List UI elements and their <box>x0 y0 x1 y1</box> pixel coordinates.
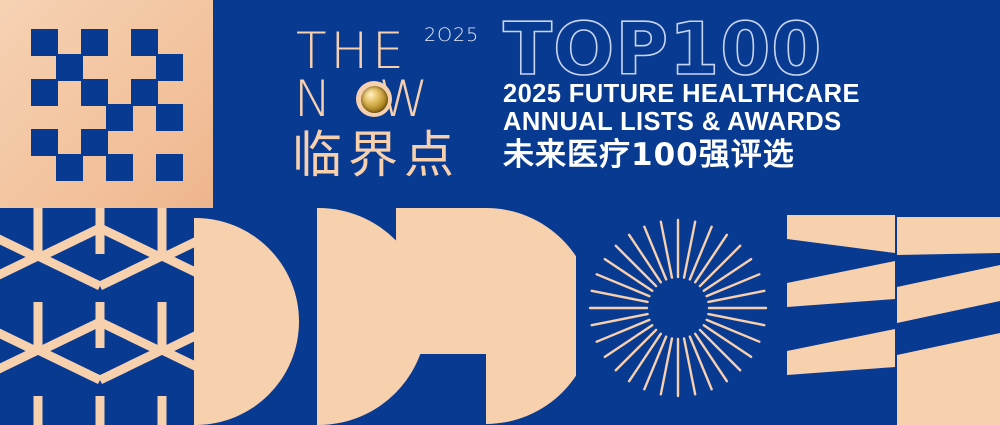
logo-chinese-name: 临界点 <box>292 130 460 180</box>
checker-cell <box>57 55 82 80</box>
notched-circle-svg <box>396 208 576 425</box>
diagonal-stripes-pattern <box>787 205 1000 425</box>
checker-cell <box>157 80 182 105</box>
checker-cell <box>32 80 57 105</box>
diagonal-stripes-svg <box>787 205 1000 425</box>
logo-now-n: N <box>294 70 335 128</box>
checker-cell <box>57 130 82 155</box>
notched-circle-shape <box>396 208 576 425</box>
checker-cell <box>107 80 132 105</box>
checker-cell <box>82 155 107 180</box>
checker-cell <box>82 130 107 155</box>
checker-cell <box>132 55 157 80</box>
checker-cell <box>57 30 82 55</box>
half-circle-shape-1 <box>194 218 299 425</box>
checker-cell <box>82 30 107 55</box>
checker-cell <box>57 80 82 105</box>
checkerboard-pattern <box>0 0 213 208</box>
checker-cell <box>107 130 132 155</box>
headline-line-2: ANNUAL LISTS & AWARDS <box>503 109 973 137</box>
logo-word-the: THE <box>296 26 408 76</box>
checker-cell <box>82 55 107 80</box>
checker-cell <box>32 130 57 155</box>
logo-year-2025: 2O25 <box>424 24 479 46</box>
sunburst-rays <box>588 218 768 398</box>
sunburst-svg <box>588 218 768 398</box>
checker-cell <box>107 155 132 180</box>
top100-title: TOP100 <box>503 18 973 81</box>
cube-lattice-pattern <box>0 208 216 425</box>
checker-cell <box>32 30 57 55</box>
headline-line-1: 2025 FUTURE HEALTHCARE <box>503 81 973 109</box>
checker-cell <box>132 155 157 180</box>
checker-cell <box>157 30 182 55</box>
checker-cell <box>32 105 57 130</box>
checker-cell <box>132 30 157 55</box>
checker-cell <box>57 155 82 180</box>
checker-cell <box>157 155 182 180</box>
gold-orb-icon <box>356 81 392 117</box>
checker-cell <box>132 105 157 130</box>
checker-cell <box>32 55 57 80</box>
gold-orb-inner <box>361 86 388 113</box>
checker-cell <box>82 80 107 105</box>
headline-block: TOP100 2025 FUTURE HEALTHCARE ANNUAL LIS… <box>503 18 973 174</box>
checker-cell <box>157 105 182 130</box>
cube-lattice-svg <box>0 208 216 425</box>
checker-cell <box>132 130 157 155</box>
checker-cell <box>32 155 57 180</box>
checker-cell <box>82 105 107 130</box>
checker-cell <box>57 105 82 130</box>
checkerboard-grid <box>32 30 182 180</box>
checker-cell <box>157 130 182 155</box>
checker-cell <box>107 55 132 80</box>
checker-cell <box>132 80 157 105</box>
checker-cell <box>157 55 182 80</box>
award-banner: THE 2O25 NOW 临界点 TOP100 2025 FUTURE HEAL… <box>0 0 1000 425</box>
checker-cell <box>107 105 132 130</box>
headline-line-chinese: 未来医疗100强评选 <box>503 138 973 174</box>
the-now-logo: THE 2O25 NOW 临界点 <box>292 22 492 194</box>
checker-cell <box>107 30 132 55</box>
